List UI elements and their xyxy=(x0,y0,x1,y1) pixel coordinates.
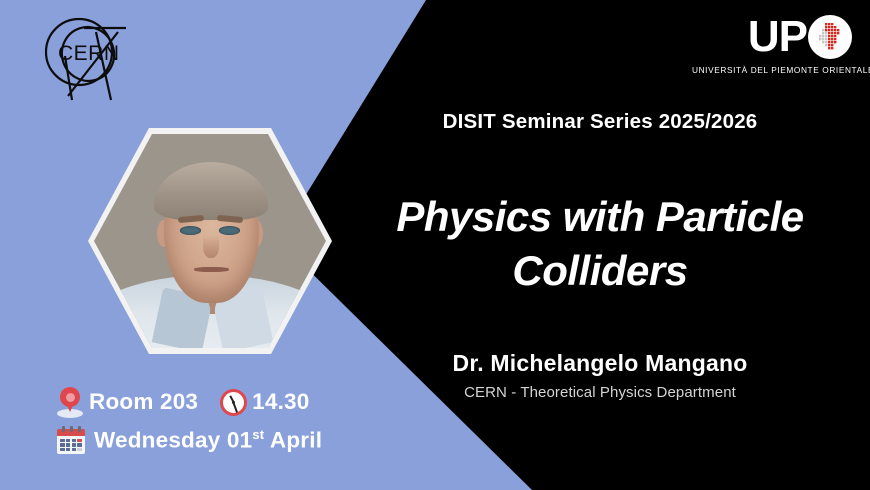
event-location: Room 203 xyxy=(89,389,198,415)
calendar-cell xyxy=(60,443,65,446)
calendar-cell xyxy=(66,448,71,451)
event-date-suffix: April xyxy=(264,427,322,452)
calendar-cell xyxy=(72,439,77,442)
map-pin-icon xyxy=(56,386,84,418)
calendar-icon-ring-1 xyxy=(62,426,65,432)
speaker-affiliation: CERN - Theoretical Physics Department xyxy=(330,384,870,401)
event-date-ordinal: st xyxy=(252,427,264,442)
upo-logo-letters: UP xyxy=(748,15,807,59)
calendar-cell xyxy=(77,439,82,442)
seminar-poster: CERN UP xyxy=(0,0,870,490)
calendar-cell xyxy=(66,443,71,446)
photo-nose xyxy=(203,235,219,259)
map-pin-icon-dot xyxy=(66,393,75,402)
cern-logo: CERN xyxy=(32,10,142,102)
clock-icon xyxy=(220,388,249,417)
calendar-cell xyxy=(60,448,65,451)
event-time: 14.30 xyxy=(252,389,309,415)
event-date-prefix: Wednesday 01 xyxy=(94,427,252,452)
piedmont-map-icon xyxy=(816,21,846,53)
calendar-icon xyxy=(56,425,86,455)
upo-logo-row: UP xyxy=(692,14,852,60)
calendar-cell xyxy=(72,448,77,451)
photo-eye-left xyxy=(180,226,201,235)
seminar-title: Physics with Particle Colliders xyxy=(330,190,870,298)
calendar-cell xyxy=(77,443,82,446)
calendar-cell xyxy=(66,439,71,442)
calendar-cell xyxy=(72,443,77,446)
seminar-title-line-1: Physics with Particle xyxy=(330,190,870,244)
photo-mouth xyxy=(194,267,229,272)
seminar-series-label: DISIT Seminar Series 2025/2026 xyxy=(330,110,870,134)
event-details-row-location-time: Room 203 14.30 xyxy=(56,386,322,418)
cern-logo-text: CERN xyxy=(58,42,120,65)
speaker-photo xyxy=(88,128,332,354)
photo-eye-right xyxy=(219,226,240,235)
event-details: Room 203 14.30 xyxy=(56,386,322,456)
upo-logo-o-mark xyxy=(808,15,852,59)
speaker-name: Dr. Michelangelo Mangano xyxy=(330,350,870,377)
seminar-title-line-2: Colliders xyxy=(330,244,870,298)
event-date: Wednesday 01st April xyxy=(94,427,322,454)
calendar-cell xyxy=(77,448,82,451)
upo-logo: UP xyxy=(692,14,852,80)
upo-logo-subtitle: UNIVERSITÀ DEL PIEMONTE ORIENTALE xyxy=(692,65,852,75)
calendar-icon-ring-3 xyxy=(78,426,81,432)
calendar-icon-grid xyxy=(60,439,82,451)
calendar-icon-ring-2 xyxy=(70,426,73,432)
calendar-cell xyxy=(60,439,65,442)
event-details-row-date: Wednesday 01st April xyxy=(56,424,322,456)
